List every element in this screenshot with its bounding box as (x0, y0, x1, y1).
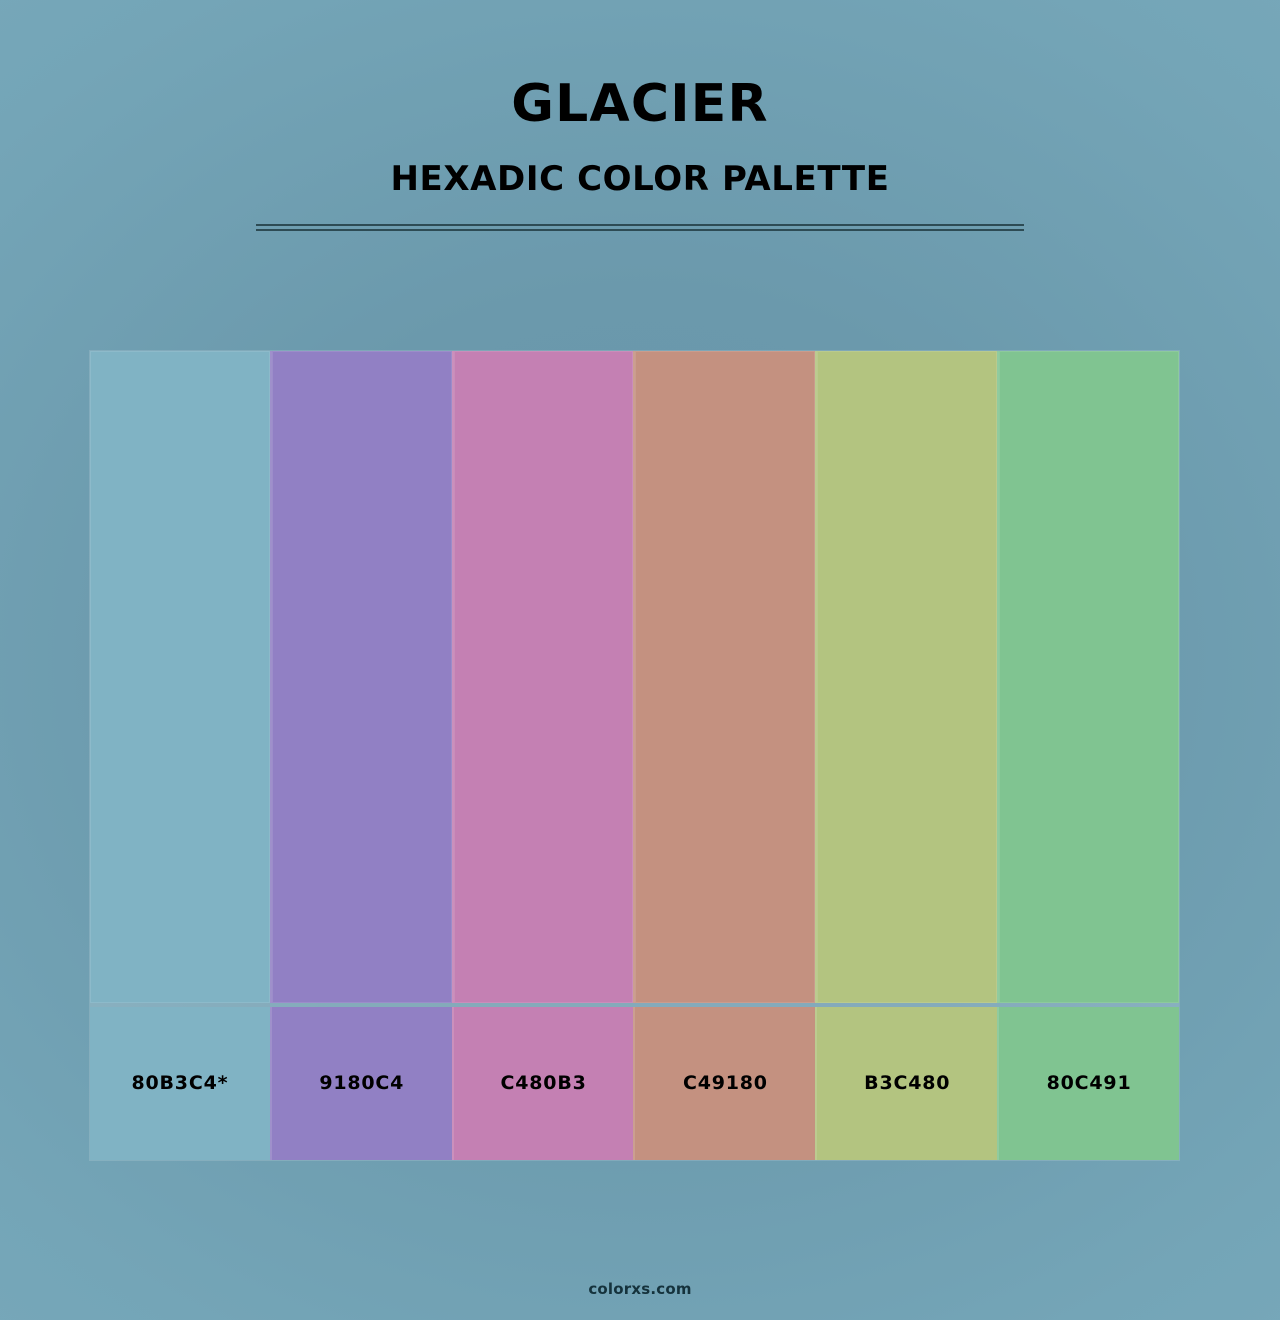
page-title: GLACIER (0, 0, 1280, 134)
hex-code-1: 80B3C4* (131, 1072, 228, 1094)
color-label-cell-5[interactable]: B3C480 (815, 1007, 997, 1160)
site-credit: colorxs.com (588, 1280, 691, 1298)
color-label-cell-1[interactable]: 80B3C4* (90, 1007, 270, 1160)
hex-code-6: 80C491 (1047, 1072, 1132, 1094)
color-label-cell-3[interactable]: C480B3 (452, 1007, 634, 1160)
color-label-row: 80B3C4* 9180C4 C480B3 C49180 B3C480 80C4… (90, 1003, 1179, 1160)
header: GLACIER HEXADIC COLOR PALETTE (0, 0, 1280, 231)
page-background: GLACIER HEXADIC COLOR PALETTE 80B3C4* 91… (0, 0, 1280, 1320)
title-divider (256, 224, 1024, 231)
color-swatch-4[interactable] (633, 351, 815, 1003)
color-label-cell-2[interactable]: 9180C4 (270, 1007, 452, 1160)
color-swatch-1[interactable] (90, 351, 270, 1003)
hex-code-3: C480B3 (501, 1072, 587, 1094)
color-label-cell-4[interactable]: C49180 (633, 1007, 815, 1160)
footer: colorxs.com (0, 1279, 1280, 1298)
color-swatch-5[interactable] (815, 351, 997, 1003)
color-swatch-2[interactable] (270, 351, 452, 1003)
color-label-cell-6[interactable]: 80C491 (997, 1007, 1179, 1160)
hex-code-5: B3C480 (864, 1072, 950, 1094)
color-swatch-row (90, 351, 1179, 1003)
color-palette: 80B3C4* 9180C4 C480B3 C49180 B3C480 80C4… (90, 351, 1179, 1160)
color-swatch-3[interactable] (452, 351, 634, 1003)
page-subtitle: HEXADIC COLOR PALETTE (0, 134, 1280, 199)
divider-line-bottom (256, 229, 1024, 231)
hex-code-2: 9180C4 (319, 1072, 404, 1094)
hex-code-4: C49180 (683, 1072, 768, 1094)
color-swatch-6[interactable] (997, 351, 1179, 1003)
divider-line-top (256, 224, 1024, 226)
